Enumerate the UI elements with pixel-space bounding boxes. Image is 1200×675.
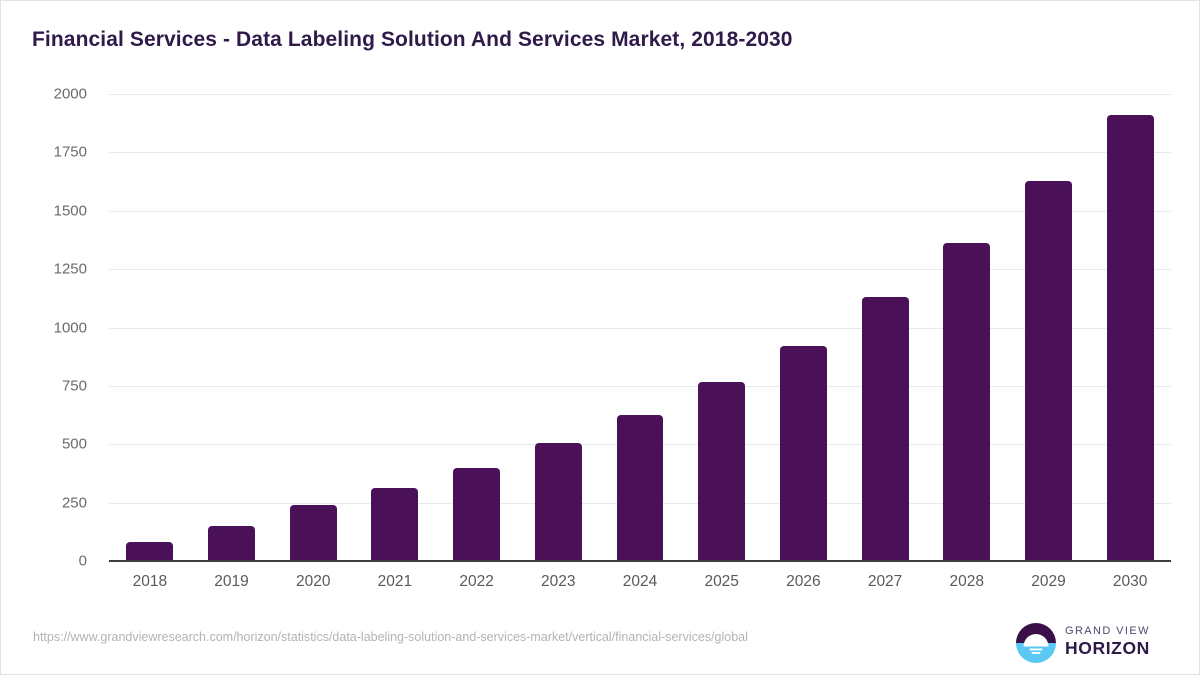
logo-line-1: GRAND VIEW <box>1065 624 1150 638</box>
bar[interactable] <box>862 297 909 561</box>
bar[interactable] <box>535 443 582 561</box>
x-tick-label: 2027 <box>868 573 902 591</box>
y-tick-label: 1750 <box>27 144 87 161</box>
x-tick-label: 2029 <box>1031 573 1065 591</box>
x-tick-label: 2024 <box>623 573 657 591</box>
x-tick-label: 2030 <box>1113 573 1147 591</box>
bar[interactable] <box>780 346 827 561</box>
bar[interactable] <box>698 382 745 561</box>
plot-area <box>109 94 1171 561</box>
x-tick-label: 2022 <box>459 573 493 591</box>
y-tick-label: 500 <box>27 436 87 453</box>
gridline <box>109 269 1171 270</box>
bar[interactable] <box>290 505 337 561</box>
x-axis-line <box>109 560 1171 562</box>
x-tick-label: 2025 <box>704 573 738 591</box>
gridline <box>109 94 1171 95</box>
chart-page: Financial Services - Data Labeling Solut… <box>0 0 1200 675</box>
gridline <box>109 211 1171 212</box>
bar[interactable] <box>943 243 990 561</box>
bar[interactable] <box>208 526 255 561</box>
y-tick-label: 1250 <box>27 261 87 278</box>
x-tick-label: 2020 <box>296 573 330 591</box>
bar[interactable] <box>617 415 664 561</box>
y-tick-label: 1000 <box>27 319 87 336</box>
bar[interactable] <box>453 468 500 561</box>
logo-text: GRAND VIEW HORIZON <box>1065 624 1150 658</box>
y-tick-label: 1500 <box>27 202 87 219</box>
bar[interactable] <box>126 542 173 561</box>
logo-line-2: HORIZON <box>1065 638 1150 658</box>
y-tick-label: 2000 <box>27 86 87 103</box>
gridline <box>109 152 1171 153</box>
gridline <box>109 386 1171 387</box>
y-tick-label: 750 <box>27 377 87 394</box>
y-tick-label: 0 <box>27 553 87 570</box>
bar[interactable] <box>1025 181 1072 561</box>
gridline <box>109 328 1171 329</box>
x-tick-label: 2019 <box>214 573 248 591</box>
brand-logo[interactable]: GRAND VIEW HORIZON <box>1015 619 1175 665</box>
x-tick-label: 2026 <box>786 573 820 591</box>
x-tick-label: 2018 <box>133 573 167 591</box>
x-tick-label: 2023 <box>541 573 575 591</box>
page-title: Financial Services - Data Labeling Solut… <box>32 28 793 52</box>
x-tick-label: 2028 <box>950 573 984 591</box>
bar[interactable] <box>371 488 418 561</box>
x-tick-label: 2021 <box>378 573 412 591</box>
source-url[interactable]: https://www.grandviewresearch.com/horizo… <box>33 629 913 646</box>
bar[interactable] <box>1107 115 1154 561</box>
grand-view-horizon-mark-icon <box>1015 622 1057 664</box>
y-tick-label: 250 <box>27 494 87 511</box>
